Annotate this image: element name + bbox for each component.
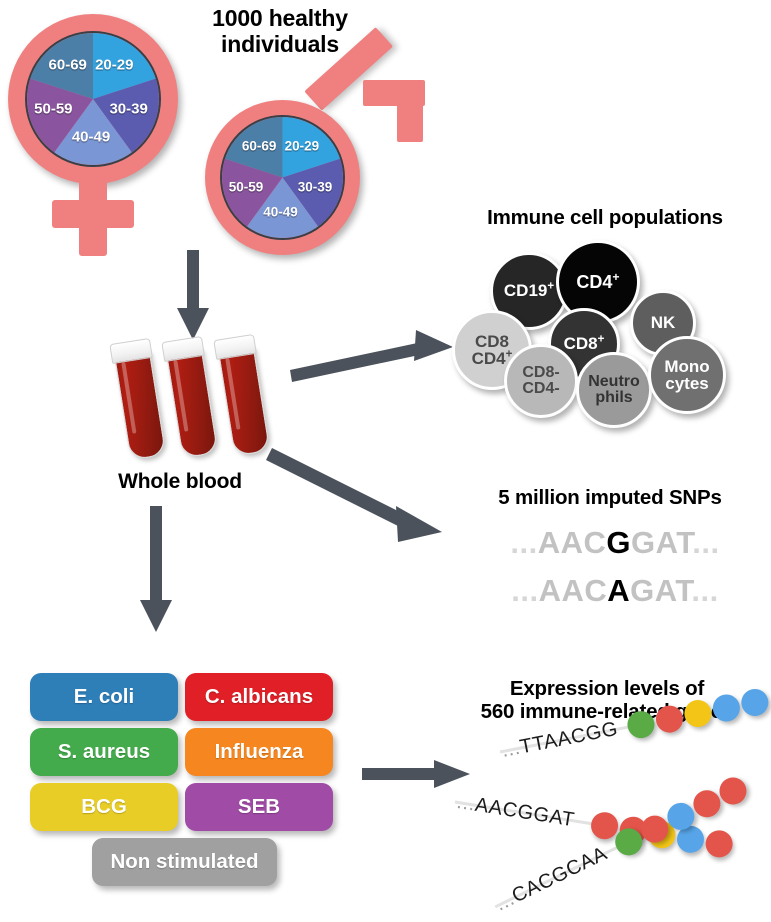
section-title-immune: Immune cell populations	[452, 207, 758, 230]
pie-label-60-69: 60-69	[49, 56, 87, 73]
gene-expression-bead	[625, 708, 657, 740]
male-arrow-head	[363, 80, 423, 140]
arrow-blood-to-snps	[272, 448, 450, 544]
pie-label-40-49: 40-49	[263, 204, 298, 219]
pie-label-50-59: 50-59	[229, 179, 264, 194]
gene-strand-sequence: ...TTAACGG	[500, 717, 620, 762]
stimulation-pill-seb[interactable]: SEB	[185, 783, 333, 831]
snp-variant-base: A	[607, 573, 630, 608]
arrow-blood-to-immune	[290, 330, 455, 382]
section-title-snps: 5 million imputed SNPs	[460, 487, 760, 510]
snp-sequences: ...AACGGAT......AACAGAT...	[470, 525, 760, 620]
gene-strand-dots: ...	[500, 736, 522, 761]
age-pie-male	[220, 115, 345, 240]
male-arrow-head-horizontal	[363, 80, 425, 106]
pie-label-40-49: 40-49	[72, 128, 110, 145]
pie-label-20-29: 20-29	[285, 139, 320, 154]
age-pie-female-svg	[27, 33, 159, 165]
snp-suffix: GAT	[630, 573, 691, 608]
snp-leading-dots: ...	[511, 573, 538, 608]
arrow-blood-to-stimulations	[128, 506, 184, 634]
gene-strand-sequence: ...CACGCAA	[492, 842, 611, 916]
pie-label-50-59: 50-59	[34, 101, 72, 118]
snp-leading-dots: ...	[510, 525, 537, 560]
stimulation-pill-label: Influenza	[215, 740, 304, 764]
stimulation-pill-label: SEB	[238, 795, 280, 819]
blood-tube	[164, 336, 218, 458]
pie-label-20-29: 20-29	[95, 56, 133, 73]
blood-tube	[112, 338, 166, 460]
snp-trailing-dots: ...	[691, 573, 718, 608]
stimulation-pill-bcg[interactable]: BCG	[30, 783, 178, 831]
gene-expression-bead	[704, 828, 735, 859]
snp-sequence-row: ...AACGGAT...	[470, 525, 760, 561]
immune-cell-label: CD4+	[576, 273, 619, 291]
female-symbol: 20-2930-3940-4950-5960-69	[8, 14, 188, 264]
immune-cell-label: CD8CD4+	[472, 333, 513, 368]
immune-cell-label: Monocytes	[664, 358, 709, 393]
label-whole-blood: Whole blood	[80, 470, 280, 494]
stimulation-pill-ecoli[interactable]: E. coli	[30, 673, 178, 721]
stimulation-pill-label: BCG	[81, 795, 127, 819]
stimulation-pill-label: Non stimulated	[110, 850, 258, 874]
pie-label-30-39: 30-39	[109, 101, 147, 118]
immune-cell-neutrophils[interactable]: Neutrophils	[576, 352, 652, 428]
stimulation-pill-calbicans[interactable]: C. albicans	[185, 673, 333, 721]
male-symbol: 20-2930-3940-4950-5960-69	[205, 70, 420, 260]
gene-strand-dots: ...	[455, 790, 477, 815]
gene-expression-bead	[739, 686, 771, 718]
snp-trailing-dots: ...	[692, 525, 719, 560]
immune-cell-label: CD8-CD4-	[522, 365, 559, 398]
gene-strand-sequence: ...AACGGAT	[455, 790, 576, 831]
stimulation-pill-saureus[interactable]: S. aureus	[30, 728, 178, 776]
gene-strand-dots: ...	[492, 887, 518, 915]
gene-expression-bead	[654, 703, 686, 735]
age-pie-female	[25, 31, 161, 167]
gene-expression-bead	[710, 692, 742, 724]
immune-cell-label: CD19+	[504, 282, 554, 299]
snp-variant-base: G	[606, 525, 631, 560]
stimulation-pill-label: C. albicans	[205, 685, 313, 709]
stimulation-conditions: E. coliC. albicansS. aureusInfluenzaBCGS…	[30, 673, 350, 893]
immune-cell-label: NK	[651, 314, 676, 331]
whole-blood-tubes	[108, 337, 278, 462]
snp-prefix: AAC	[539, 573, 608, 608]
immune-cell-cd8cd4[interactable]: CD8-CD4-	[504, 344, 578, 418]
immune-cell-label: CD8+	[564, 335, 605, 352]
stimulation-pill-label: S. aureus	[58, 740, 150, 764]
arrow-cohort-to-blood	[165, 250, 221, 342]
snp-prefix: AAC	[538, 525, 607, 560]
female-cross-horizontal	[52, 200, 134, 228]
immune-cell-cluster: CD19+CD4+CD8CD4+CD8+NKCD8-CD4-Neutrophil…	[452, 240, 767, 420]
pie-label-60-69: 60-69	[242, 139, 277, 154]
immune-cell-label: Neutrophils	[588, 374, 640, 407]
figure-canvas: 1000 healthy individuals 20-2930-3940-49…	[0, 0, 771, 922]
stimulation-pill-label: E. coli	[74, 685, 134, 709]
gene-expression-bead	[682, 697, 714, 729]
blood-tube	[216, 334, 270, 456]
snp-sequence-row: ...AACAGAT...	[470, 573, 760, 609]
snp-suffix: GAT	[631, 525, 692, 560]
stimulation-pill-nonstimulated[interactable]: Non stimulated	[92, 838, 277, 886]
gene-expression-strands: ...TTAACGG...AACGGAT...CACGCAA	[455, 715, 771, 915]
pie-label-30-39: 30-39	[298, 179, 333, 194]
immune-cell-monocytes[interactable]: Monocytes	[648, 336, 726, 414]
age-pie-male-svg	[222, 117, 343, 238]
stimulation-pill-influenza[interactable]: Influenza	[185, 728, 333, 776]
